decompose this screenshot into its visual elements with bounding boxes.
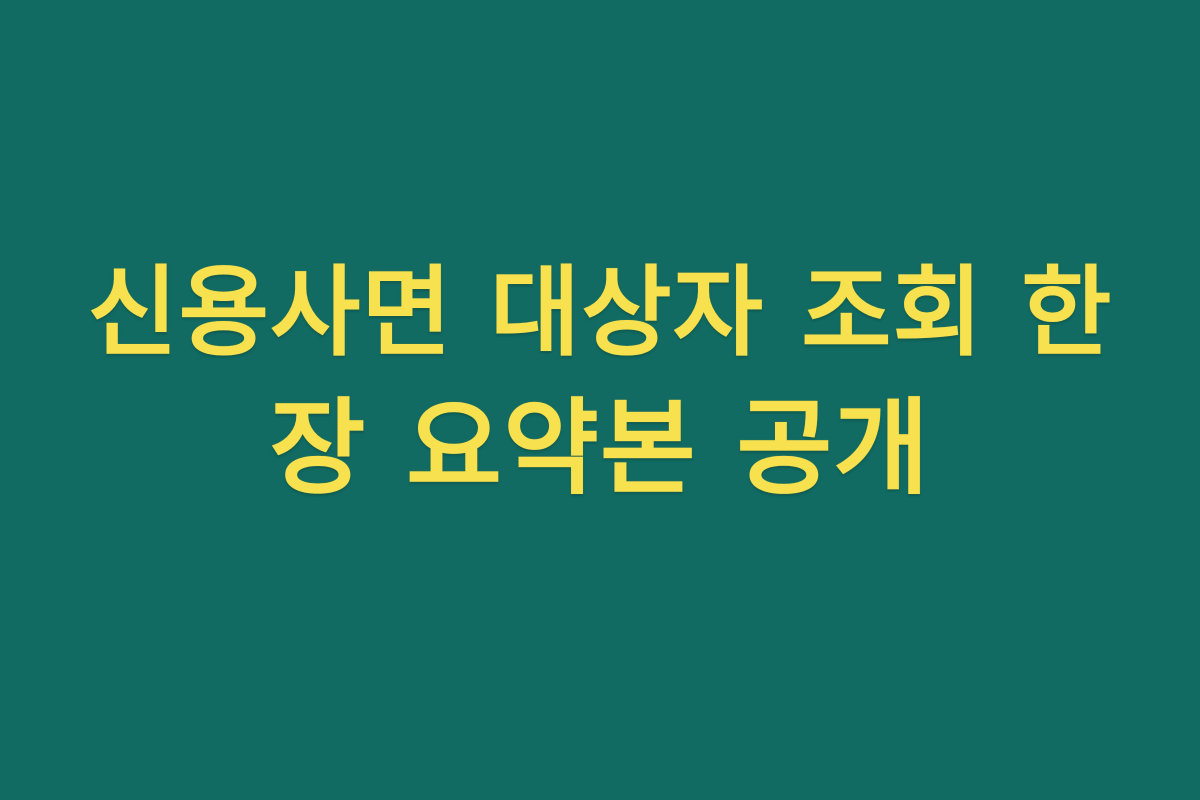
- headline-line-2: 장 요약본 공개: [270, 380, 931, 517]
- headline-line-1: 신용사면 대상자 조회 한: [87, 245, 1112, 382]
- headline-block: 신용사면 대상자 조회 한 장 요약본 공개: [50, 245, 1150, 517]
- thumbnail-card: 신용사면 대상자 조회 한 장 요약본 공개: [0, 0, 1200, 800]
